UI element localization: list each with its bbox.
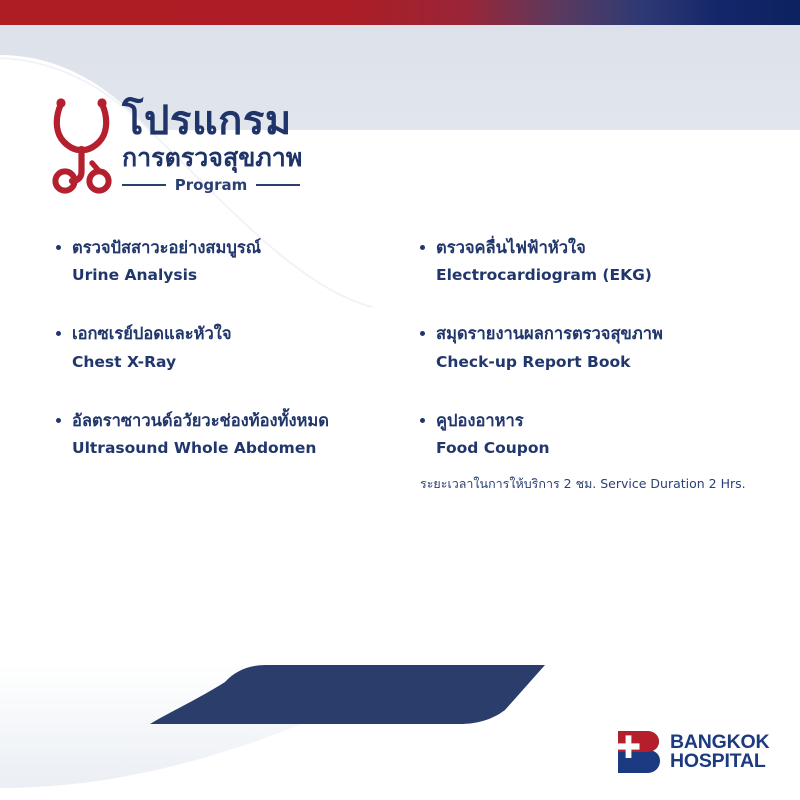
list-item: เอกซเรย์ปอดและหัวใจ Chest X-Ray xyxy=(56,323,406,371)
service-thai: คูปองอาหาร xyxy=(420,410,780,432)
service-thai: สมุดรายงานผลการตรวจสุขภาพ xyxy=(420,323,780,345)
service-thai: เอกซเรย์ปอดและหัวใจ xyxy=(56,323,406,345)
service-thai: ตรวจปัสสาวะอย่างสมบูรณ์ xyxy=(56,237,406,259)
service-english: Chest X-Ray xyxy=(56,352,406,372)
card-surface: โปรแกรม การตรวจสุขภาพ Program ตรวจปัสสาว… xyxy=(0,25,800,800)
top-gradient-banner xyxy=(0,0,800,25)
bullet-icon xyxy=(56,331,61,336)
bangkok-hospital-mark-icon xyxy=(618,731,660,773)
service-thai-text: ตรวจปัสสาวะอย่างสมบูรณ์ xyxy=(72,238,261,257)
bullet-icon xyxy=(56,245,61,250)
rule-line-left xyxy=(122,184,166,186)
list-item: อัลตราซาวนด์อวัยวะช่องท้องทั้งหมด Ultras… xyxy=(56,410,406,458)
bullet-icon xyxy=(420,245,425,250)
list-item: สมุดรายงานผลการตรวจสุขภาพ Check-up Repor… xyxy=(420,323,780,371)
brand-line-2: HOSPITAL xyxy=(670,752,769,771)
service-english: Ultrasound Whole Abdomen xyxy=(56,438,406,458)
promo-card: โปรแกรม การตรวจสุขภาพ Program ตรวจปัสสาว… xyxy=(0,0,800,800)
program-header: โปรแกรม การตรวจสุขภาพ Program xyxy=(52,93,302,198)
program-rule: Program xyxy=(122,176,300,194)
bullet-icon xyxy=(420,418,425,423)
list-item: คูปองอาหาร Food Coupon xyxy=(420,410,780,458)
service-thai: ตรวจคลื่นไฟฟ้าหัวใจ xyxy=(420,237,780,259)
bangkok-hospital-logo: BANGKOK HOSPITAL xyxy=(618,731,769,773)
service-duration-note: ระยะเวลาในการให้บริการ 2 ชม. Service Dur… xyxy=(420,476,746,492)
service-column-right: ตรวจคลื่นไฟฟ้าหัวใจ Electrocardiogram (E… xyxy=(420,237,780,496)
bottom-swoosh-decoration xyxy=(0,620,800,800)
bullet-icon xyxy=(420,331,425,336)
list-item: ตรวจปัสสาวะอย่างสมบูรณ์ Urine Analysis xyxy=(56,237,406,285)
rule-label: Program xyxy=(166,176,257,194)
stethoscope-icon xyxy=(52,93,114,198)
service-english: Electrocardiogram (EKG) xyxy=(420,265,780,285)
service-thai: อัลตราซาวนด์อวัยวะช่องท้องทั้งหมด xyxy=(56,410,406,432)
service-thai-text: ตรวจคลื่นไฟฟ้าหัวใจ xyxy=(436,238,586,257)
service-english: Food Coupon xyxy=(420,438,780,458)
service-thai-text: คูปองอาหาร xyxy=(436,411,524,430)
service-thai-text: อัลตราซาวนด์อวัยวะช่องท้องทั้งหมด xyxy=(72,411,329,430)
service-english: Urine Analysis xyxy=(56,265,406,285)
page-title: โปรแกรม xyxy=(122,101,302,143)
service-column-left: ตรวจปัสสาวะอย่างสมบูรณ์ Urine Analysis เ… xyxy=(56,237,406,496)
rule-line-right xyxy=(256,184,300,186)
list-item: ตรวจคลื่นไฟฟ้าหัวใจ Electrocardiogram (E… xyxy=(420,237,780,285)
service-thai-text: สมุดรายงานผลการตรวจสุขภาพ xyxy=(436,324,663,343)
service-english: Check-up Report Book xyxy=(420,352,780,372)
page-subtitle: การตรวจสุขภาพ xyxy=(122,144,302,172)
program-title-block: โปรแกรม การตรวจสุขภาพ Program xyxy=(122,93,302,194)
bullet-icon xyxy=(56,418,61,423)
brand-wordmark: BANGKOK HOSPITAL xyxy=(670,733,769,771)
service-thai-text: เอกซเรย์ปอดและหัวใจ xyxy=(72,324,231,343)
